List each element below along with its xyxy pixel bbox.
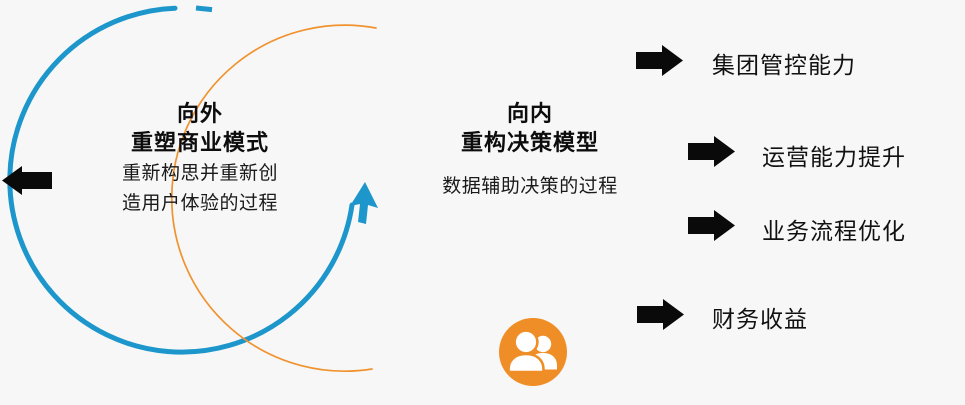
inward-heading-line2: 重构决策模型 [390,129,670,158]
outcome-arrow-2 [688,210,735,241]
inward-sub-line1: 数据辅助决策的过程 [390,175,670,200]
users-icon[interactable] [499,318,567,386]
outward-text-block: 向外 重塑商业模式 重新构思并重新创 造用户体验的过程 [60,100,340,217]
outward-arc-arrowhead [350,182,378,224]
outcome-label-0: 集团管控能力 [712,46,856,80]
outcome-label-1: 运营能力提升 [762,138,906,172]
diagram-canvas: 向外 重塑商业模式 重新构思并重新创 造用户体验的过程 向内 重构决策模型 数据… [0,0,965,405]
outcome-label-3: 财务收益 [712,300,808,334]
outcome-arrow-1 [688,136,735,167]
outcome-arrow-0 [636,45,683,76]
inward-heading-line1: 向内 [390,100,670,129]
outward-heading-line1: 向外 [60,100,340,129]
inward-text-block: 向内 重构决策模型 数据辅助决策的过程 [390,100,670,200]
outcome-label-2: 业务流程优化 [762,212,906,246]
outward-heading-line2: 重塑商业模式 [60,129,340,158]
outward-arc-dash [196,8,212,10]
outward-sub-line2: 造用户体验的过程 [60,192,340,217]
outward-sub-line1: 重新构思并重新创 [60,162,340,187]
outcome-arrow-3 [637,299,684,330]
